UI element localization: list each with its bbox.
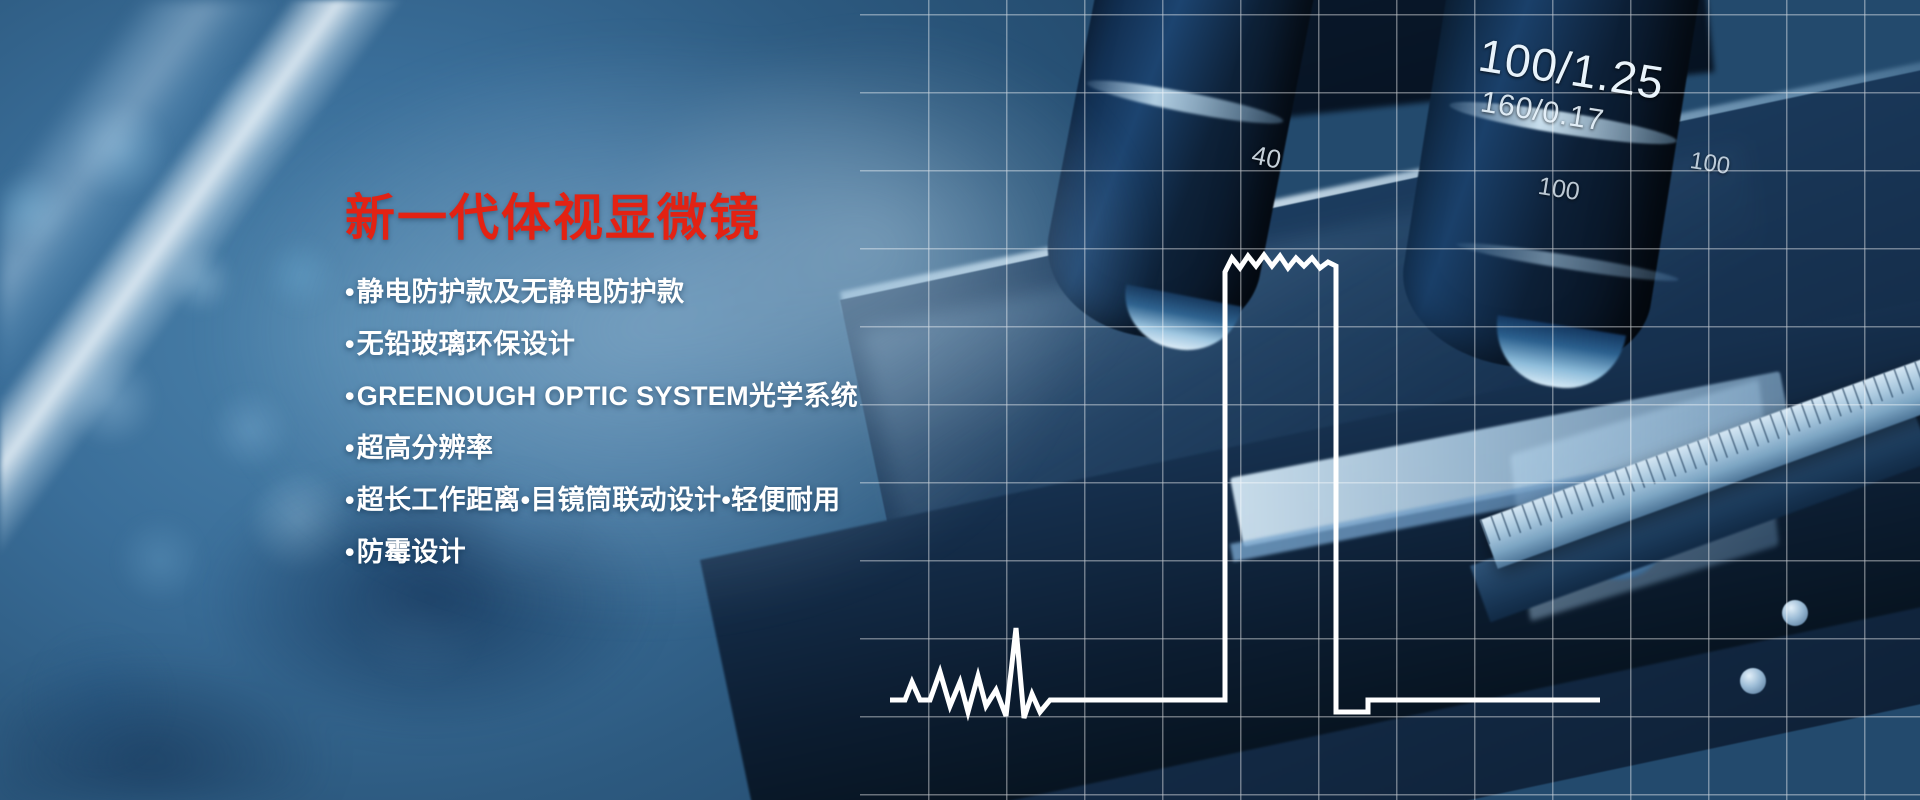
feature-list-item-label: GREENOUGH OPTIC SYSTEM光学系统 bbox=[357, 381, 858, 411]
hero-banner: 100/1.25 160/0.17 40 100 100 新一代体视显微镜 •静… bbox=[0, 0, 1920, 800]
feature-list-item: •静电防护款及无静电防护款 bbox=[345, 279, 985, 306]
feature-list-item-label: 超长工作距离•目镜筒联动设计•轻便耐用 bbox=[357, 485, 841, 515]
feature-list-item: •超长工作距离•目镜筒联动设计•轻便耐用 bbox=[345, 487, 985, 514]
page-title: 新一代体视显微镜 bbox=[345, 192, 985, 245]
feature-list-item-label: 防霉设计 bbox=[357, 537, 466, 567]
bullet-dot-icon: • bbox=[345, 331, 355, 358]
feature-list-item: •GREENOUGH OPTIC SYSTEM光学系统 bbox=[345, 383, 985, 410]
bullet-dot-icon: • bbox=[345, 279, 355, 306]
feature-list-item-label: 无铅玻璃环保设计 bbox=[357, 329, 575, 359]
banner-copy-block: 新一代体视显微镜 •静电防护款及无静电防护款•无铅玻璃环保设计•GREENOUG… bbox=[345, 192, 985, 591]
bullet-dot-icon: • bbox=[345, 539, 355, 566]
bullet-dot-icon: • bbox=[345, 435, 355, 462]
feature-list-item-label: 静电防护款及无静电防护款 bbox=[357, 277, 685, 307]
feature-list: •静电防护款及无静电防护款•无铅玻璃环保设计•GREENOUGH OPTIC S… bbox=[345, 279, 985, 566]
bullet-dot-icon: • bbox=[345, 487, 355, 514]
bullet-dot-icon: • bbox=[345, 383, 355, 410]
feature-list-item-label: 超高分辨率 bbox=[357, 433, 494, 463]
feature-list-item: •防霉设计 bbox=[345, 539, 985, 566]
feature-list-item: •超高分辨率 bbox=[345, 435, 985, 462]
feature-list-item: •无铅玻璃环保设计 bbox=[345, 331, 985, 358]
